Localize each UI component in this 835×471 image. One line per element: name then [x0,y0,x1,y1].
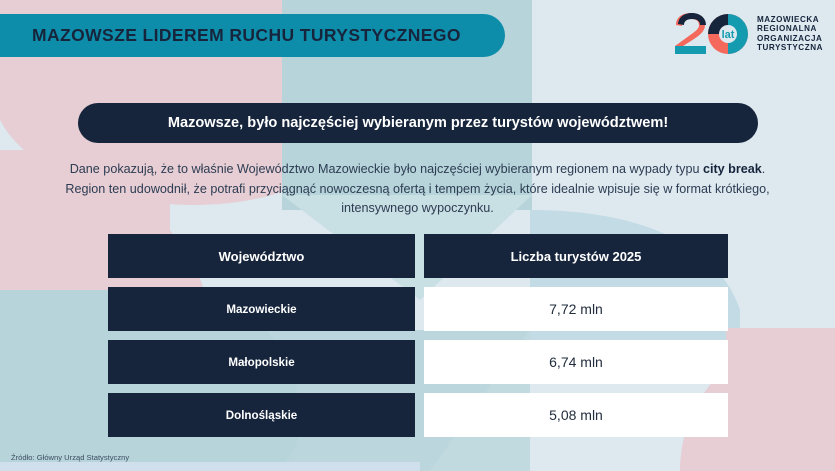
paragraph-emphasis: city break [703,162,762,176]
region-name: Dolnośląskie [226,409,298,422]
brand-line-2: REGIONALNA [757,24,823,33]
pink-block-bottom-right [726,328,835,471]
brand-line-4: TURYSTYCZNA [757,43,823,52]
table-header-cell-value: Liczba turystów 2025 [424,234,728,278]
table-row: Małopolskie 6,74 mln [108,340,728,384]
subtitle-text: Mazowsze, było najczęściej wybieranym pr… [168,115,668,131]
region-name: Mazowieckie [226,303,296,316]
paragraph-part-1: Dane pokazują, że to właśnie Województwo… [70,162,703,176]
brand-org-name: MAZOWIECKA REGIONALNA ORGANIZACJA TURYST… [757,15,823,52]
tourist-count: 7,72 mln [549,301,603,317]
column-header-region: Województwo [219,249,305,264]
table-cell-region: Mazowieckie [108,287,415,331]
body-paragraph: Dane pokazują, że to właśnie Województwo… [50,160,785,219]
table-header-row: Województwo Liczba turystów 2025 [108,234,728,278]
table-cell-value: 7,72 mln [424,287,728,331]
page-title-banner: MAZOWSZE LIDEREM RUCHU TURYSTYCZNEGO [0,14,505,57]
table-cell-value: 5,08 mln [424,393,728,437]
page-title: MAZOWSZE LIDEREM RUCHU TURYSTYCZNEGO [32,25,461,46]
tourist-count: 5,08 mln [549,407,603,423]
tourism-table: Województwo Liczba turystów 2025 Mazowie… [108,234,728,437]
subtitle-banner: Mazowsze, było najczęściej wybieranym pr… [78,103,758,143]
table-row: Mazowieckie 7,72 mln [108,287,728,331]
tourist-count: 6,74 mln [549,354,603,370]
table-cell-region: Małopolskie [108,340,415,384]
table-header-cell-region: Województwo [108,234,415,278]
column-header-tourists: Liczba turystów 2025 [511,249,642,264]
table-row: Dolnośląskie 5,08 mln [108,393,728,437]
source-note: Źródło: Główny Urząd Statystyczny [11,453,129,462]
svg-text:lat: lat [722,29,735,41]
brand-line-1: MAZOWIECKA [757,15,823,24]
region-name: Małopolskie [228,356,294,369]
table-cell-region: Dolnośląskie [108,393,415,437]
brand-line-3: ORGANIZACJA [757,34,823,43]
bottom-strip [0,462,420,471]
brand-logo[interactable]: lat MAZOWIECKA REGIONALNA ORGANIZACJA TU… [670,12,823,55]
table-cell-value: 6,74 mln [424,340,728,384]
twenty-years-anniversary-icon: lat [670,12,748,55]
